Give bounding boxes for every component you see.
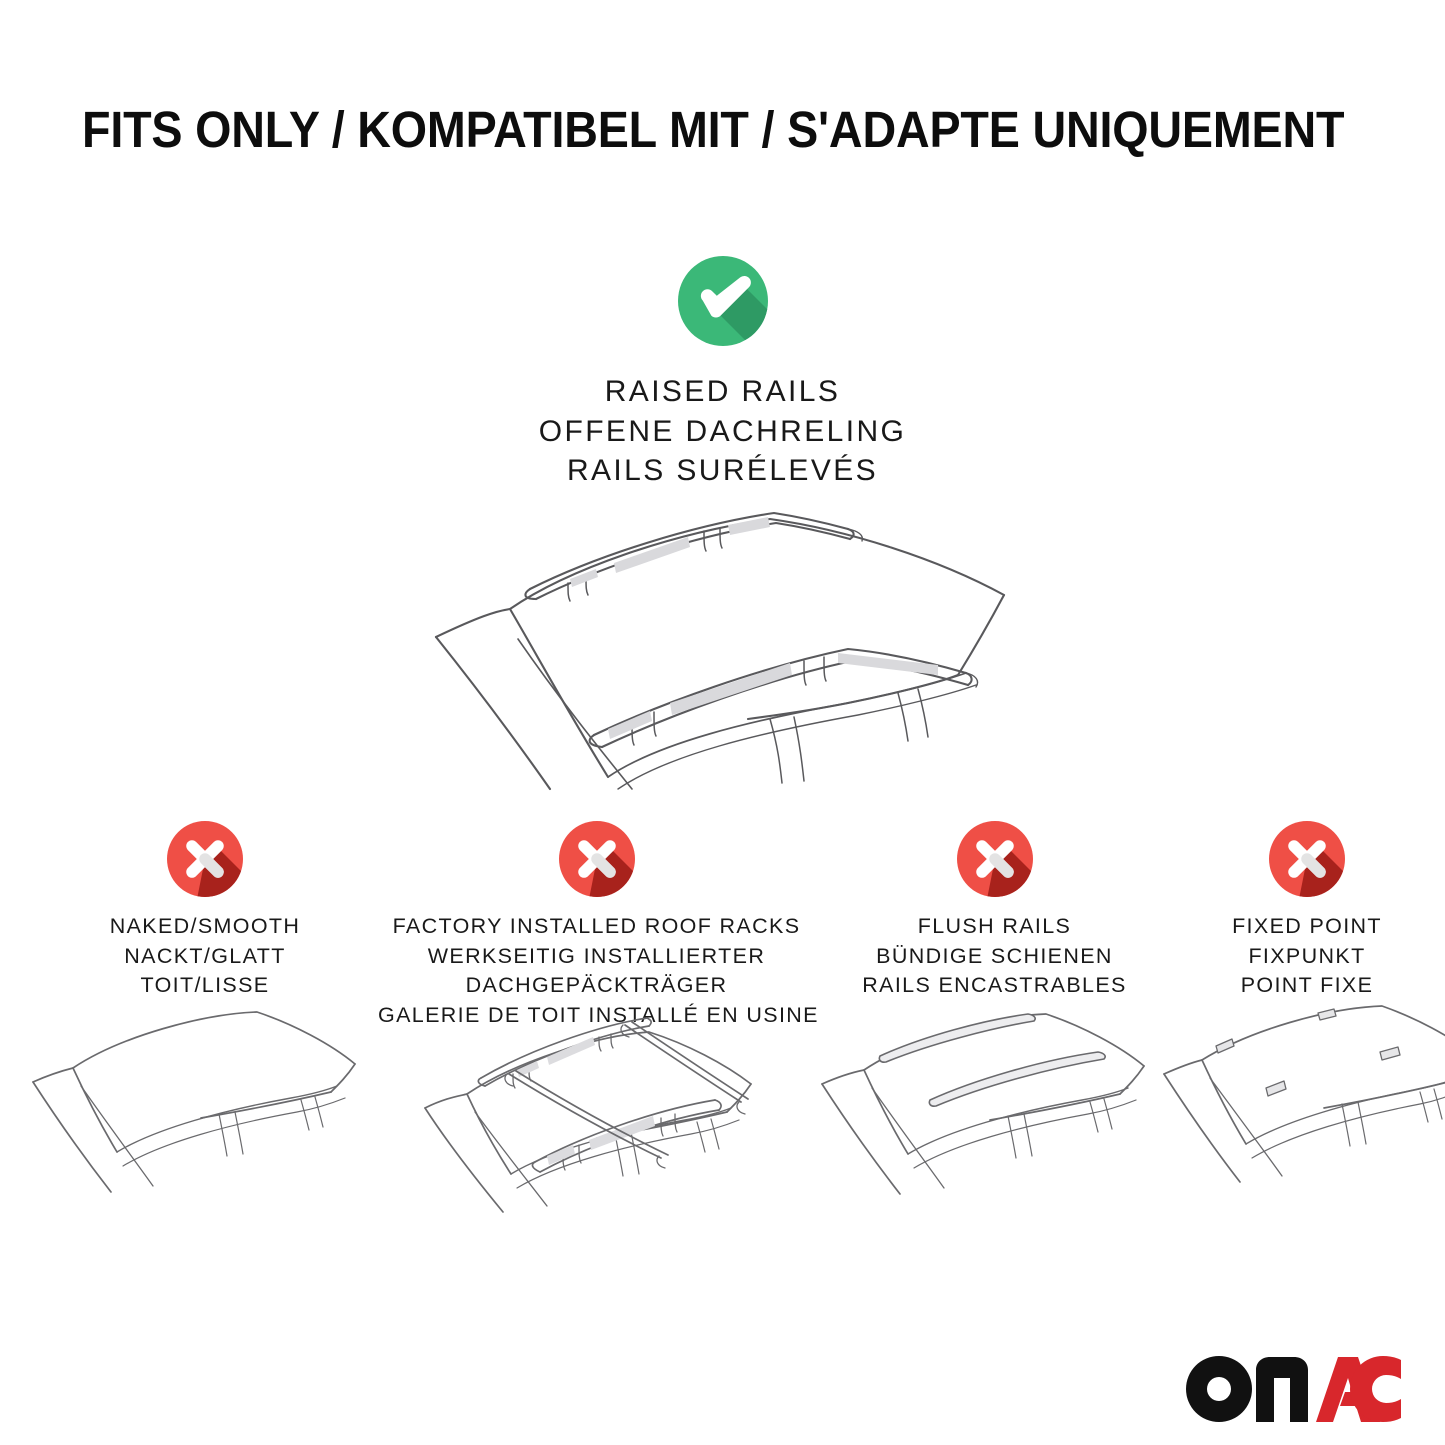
label-line-en: NAKED/SMOOTH <box>40 912 370 942</box>
label-line-de-1: WERKSEITIG INSTALLIERTER <box>378 942 815 972</box>
x-circle-svg <box>556 818 638 900</box>
incompatible-label: FLUSH RAILS BÜNDIGE SCHIENEN RAILS ENCAS… <box>822 912 1167 1001</box>
incompatible-label: FIXED POINT FIXPUNKT POINT FIXE <box>1172 912 1442 1001</box>
compatible-label: RAISED RAILS OFFENE DACHRELING RAILS SUR… <box>0 372 1445 491</box>
incompatible-item-flush-rails: FLUSH RAILS BÜNDIGE SCHIENEN RAILS ENCAS… <box>822 818 1167 1001</box>
x-circle-svg <box>1266 818 1348 900</box>
omac-logo-svg <box>1186 1356 1401 1422</box>
x-circle-svg <box>954 818 1036 900</box>
label-line-en: FLUSH RAILS <box>822 912 1167 942</box>
raised-rails-illustration <box>418 497 1028 797</box>
x-circle-svg <box>164 818 246 900</box>
compatible-label-line-en: RAISED RAILS <box>0 372 1445 412</box>
incompatible-item-factory-roof-racks: FACTORY INSTALLED ROOF RACKS WERKSEITIG … <box>378 818 815 1031</box>
check-circle-svg <box>674 252 772 350</box>
check-circle-icon <box>674 252 772 350</box>
incompatible-label: NAKED/SMOOTH NACKT/GLATT TOIT/LISSE <box>40 912 370 1001</box>
compatible-section: RAISED RAILS OFFENE DACHRELING RAILS SUR… <box>0 252 1445 491</box>
logo-letter-o <box>1186 1356 1252 1422</box>
incompatible-item-fixed-point: FIXED POINT FIXPUNKT POINT FIXE <box>1172 818 1442 1001</box>
label-line-en: FACTORY INSTALLED ROOF RACKS <box>378 912 815 942</box>
fixed-point-illustration <box>1158 990 1445 1225</box>
compatible-label-line-fr: RAILS SURÉLEVÉS <box>0 451 1445 491</box>
omac-logo <box>1186 1356 1401 1422</box>
x-circle-icon <box>556 818 638 900</box>
x-circle-icon <box>164 818 246 900</box>
raised-rails-illustration-svg <box>418 497 1028 797</box>
incompatible-section: NAKED/SMOOTH NACKT/GLATT TOIT/LISSE <box>0 818 1445 1438</box>
factory-roof-racks-illustration <box>411 1004 783 1241</box>
compatible-label-line-de: OFFENE DACHRELING <box>0 412 1445 452</box>
naked-smooth-illustration <box>25 990 385 1225</box>
x-circle-icon <box>1266 818 1348 900</box>
x-circle-icon <box>954 818 1036 900</box>
label-line-en: FIXED POINT <box>1172 912 1442 942</box>
incompatible-item-naked-smooth: NAKED/SMOOTH NACKT/GLATT TOIT/LISSE <box>40 818 370 1001</box>
logo-letter-m <box>1256 1357 1308 1422</box>
label-line-de-2: DACHGEPÄCKTRÄGER <box>378 971 815 1001</box>
page-title: FITS ONLY / KOMPATIBEL MIT / S'ADAPTE UN… <box>82 103 1262 157</box>
label-line-de: FIXPUNKT <box>1172 942 1442 972</box>
flush-rails-illustration <box>812 990 1178 1225</box>
label-line-de: NACKT/GLATT <box>40 942 370 972</box>
label-line-de: BÜNDIGE SCHIENEN <box>822 942 1167 972</box>
